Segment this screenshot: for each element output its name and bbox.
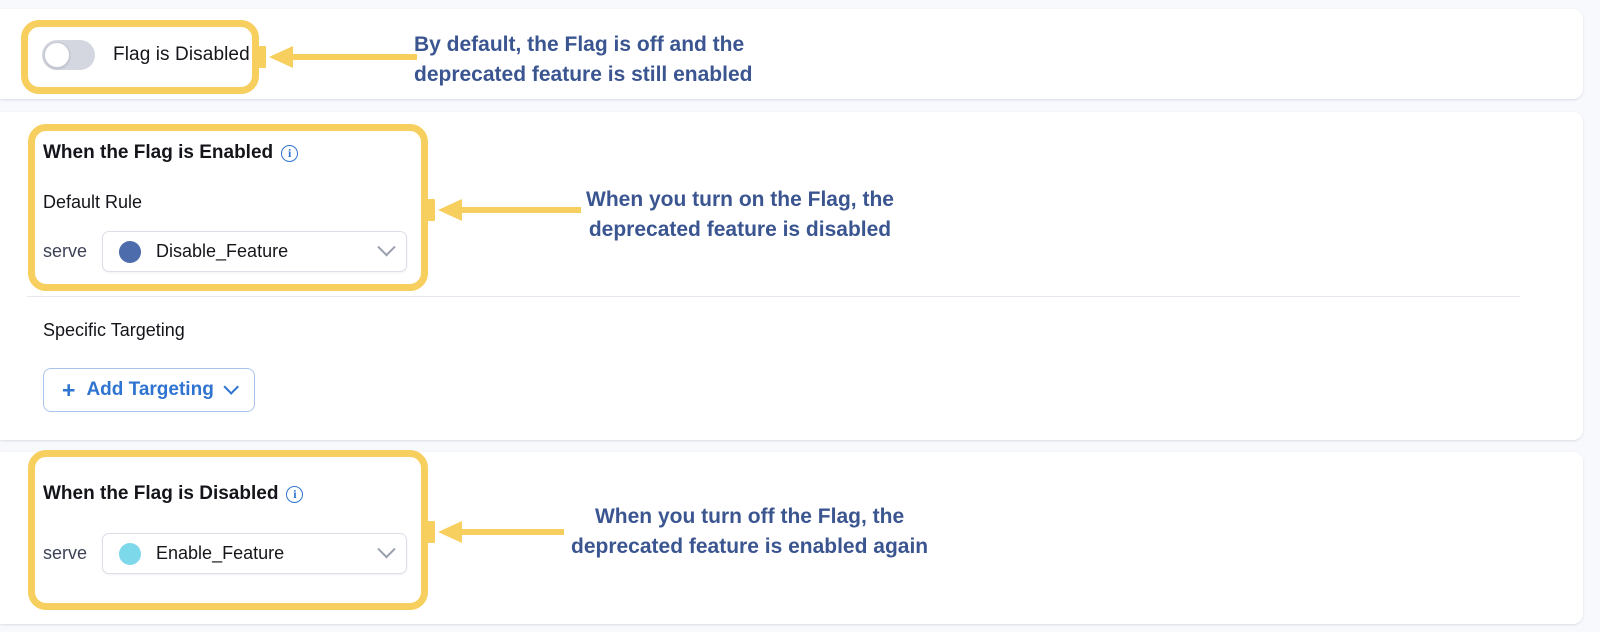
default-rule-label: Default Rule [43, 192, 142, 213]
flag-state-label: Flag is Disabled [113, 44, 250, 66]
arrow-cap [428, 199, 435, 221]
serve-label: serve [43, 241, 87, 262]
arrow-left-icon-2 [428, 199, 581, 221]
when-flag-enabled-label: When the Flag is Enabled [43, 142, 273, 164]
serve-variation-select-disabled[interactable]: Enable_Feature [102, 533, 407, 574]
arrow-left-icon-3 [428, 521, 564, 543]
specific-targeting-label: Specific Targeting [43, 320, 185, 341]
section-divider [27, 296, 1520, 297]
variation-color-dot [119, 241, 141, 263]
add-targeting-button[interactable]: + Add Targeting [43, 368, 255, 412]
serve-variation-value: Disable_Feature [156, 241, 365, 262]
serve-variation-value: Enable_Feature [156, 543, 365, 564]
arrow-head [438, 199, 462, 221]
arrow-tail [292, 54, 417, 60]
default-rule-serve-row: serve Disable_Feature [43, 231, 407, 272]
toggle-off-icon[interactable] [42, 40, 95, 70]
arrow-head [438, 521, 462, 543]
flag-toggle-row: Flag is Disabled [42, 40, 250, 70]
when-flag-disabled-heading: When the Flag is Disabled i [43, 483, 303, 505]
annotation-default-off: By default, the Flag is off and the depr… [414, 30, 752, 90]
serve-variation-select-enabled[interactable]: Disable_Feature [102, 231, 407, 272]
when-flag-enabled-heading: When the Flag is Enabled i [43, 142, 298, 164]
chevron-down-icon[interactable] [377, 238, 395, 256]
arrow-tail [461, 207, 581, 213]
chevron-down-icon[interactable] [223, 379, 239, 395]
plus-icon: + [62, 379, 75, 402]
arrow-tail [461, 529, 564, 535]
arrow-head [269, 46, 293, 68]
add-targeting-label: Add Targeting [86, 379, 213, 401]
info-circle-icon[interactable]: i [286, 486, 303, 503]
feature-flag-targeting-page: Flag is Disabled By default, the Flag is… [0, 0, 1600, 632]
annotation-flag-off: When you turn off the Flag, the deprecat… [571, 502, 928, 562]
annotation-flag-on: When you turn on the Flag, the deprecate… [586, 185, 894, 245]
when-flag-disabled-label: When the Flag is Disabled [43, 483, 278, 505]
info-circle-icon[interactable]: i [281, 145, 298, 162]
toggle-knob [44, 42, 70, 68]
serve-label: serve [43, 543, 87, 564]
chevron-down-icon[interactable] [377, 540, 395, 558]
arrow-cap [428, 521, 435, 543]
arrow-cap [259, 46, 266, 68]
arrow-left-icon-1 [259, 46, 417, 68]
variation-color-dot [119, 543, 141, 565]
flag-disabled-serve-row: serve Enable_Feature [43, 533, 407, 574]
